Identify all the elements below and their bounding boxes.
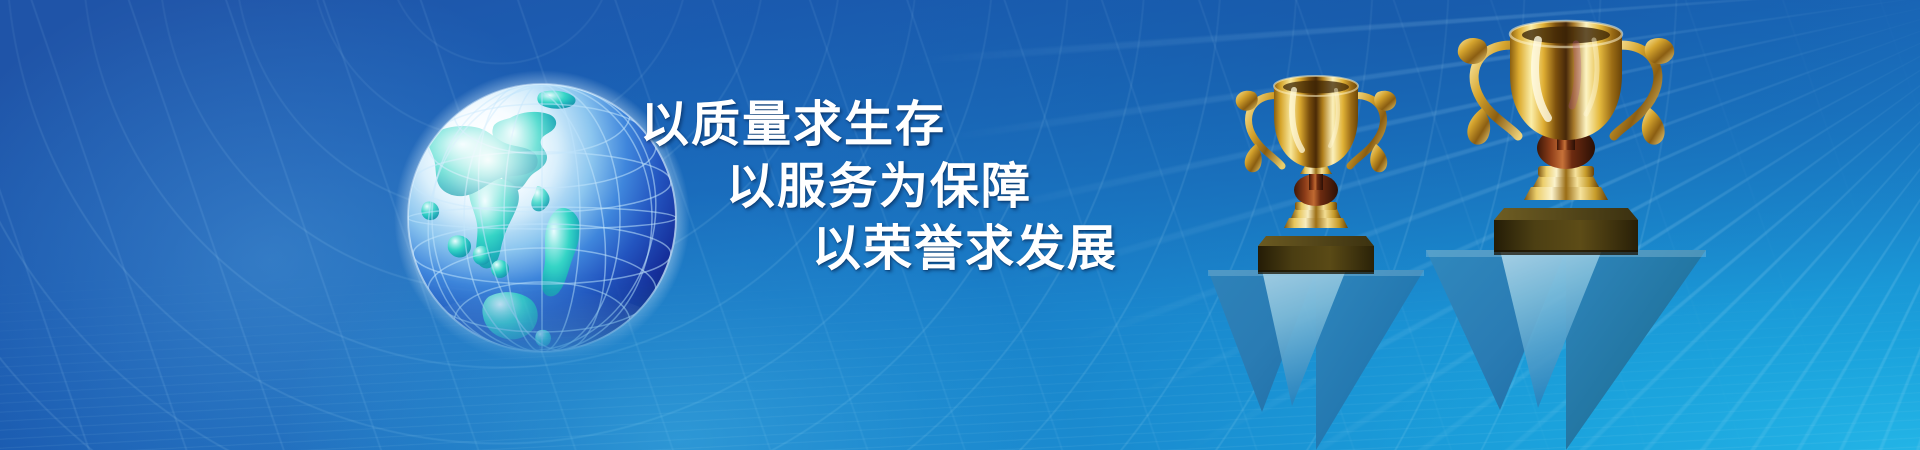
trophy-right (1458, 21, 1674, 200)
pedestal-right (1426, 250, 1706, 450)
trophy-base-block-left (1258, 236, 1374, 274)
slogan-line-3: 以荣誉求发展 (640, 218, 1260, 280)
pedestal-left (1208, 270, 1424, 450)
headline-slogan-block: 以质量求生存 以服务为保障 以荣誉求发展 (640, 94, 1260, 280)
trophy-base-block-right (1494, 208, 1638, 255)
slogan-line-2: 以服务为保障 (640, 156, 1260, 218)
banner: 以质量求生存 以服务为保障 以荣誉求发展 (0, 0, 1920, 450)
trophy-podium-right (1416, 10, 1716, 450)
slogan-line-1: 以质量求生存 (640, 94, 1260, 156)
